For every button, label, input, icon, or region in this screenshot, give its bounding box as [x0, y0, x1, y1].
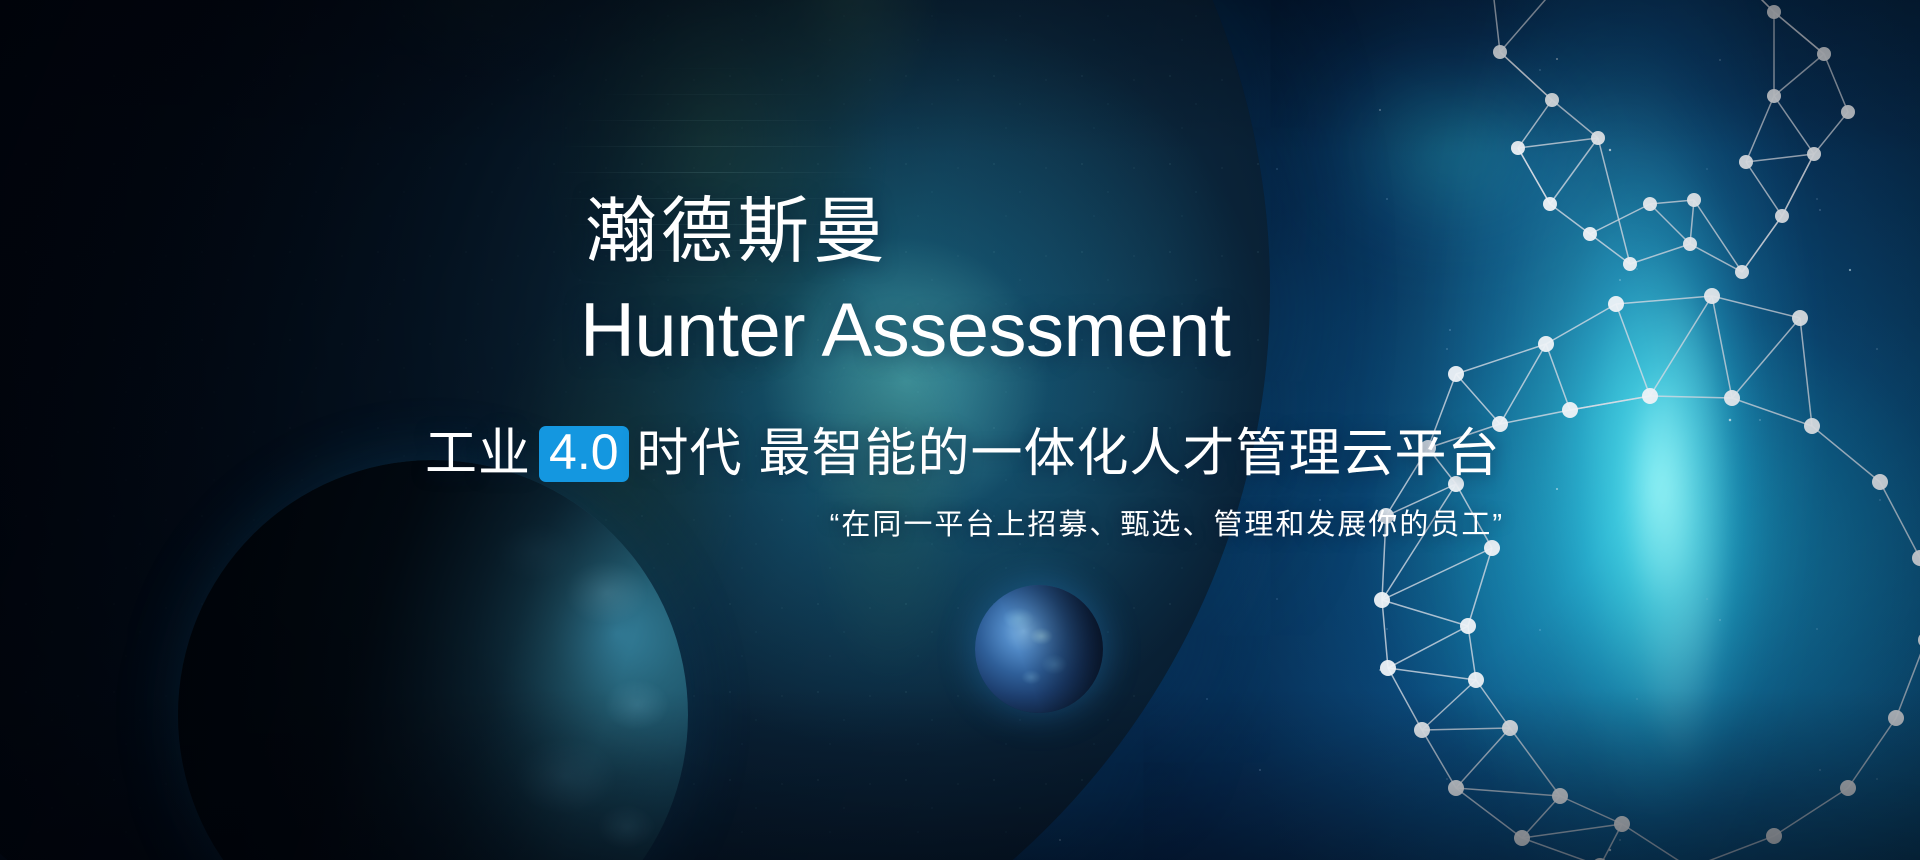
hero-banner: 瀚德斯曼 Hunter Assessment 工业 4.0 时代 最智能的一体化… [0, 0, 1920, 860]
brand-title-cn: 瀚德斯曼 [585, 196, 889, 268]
brand-title-en: Hunter Assessment [580, 293, 1230, 369]
sub-quote: “在同一平台上招募、甄选、管理和发展你的员工” [0, 508, 1504, 543]
tagline-trailing: 最智能的一体化人才管理云平台 [759, 425, 1501, 483]
hero-copy: 瀚德斯曼 Hunter Assessment 工业 4.0 时代 最智能的一体化… [0, 0, 1920, 860]
tagline-before-badge: 工业 [425, 425, 531, 483]
tagline-after-badge: 时代 [637, 425, 743, 483]
tagline: 工业 4.0 时代 最智能的一体化人才管理云平台 [425, 425, 1501, 483]
industry-version-badge: 4.0 [539, 426, 629, 482]
